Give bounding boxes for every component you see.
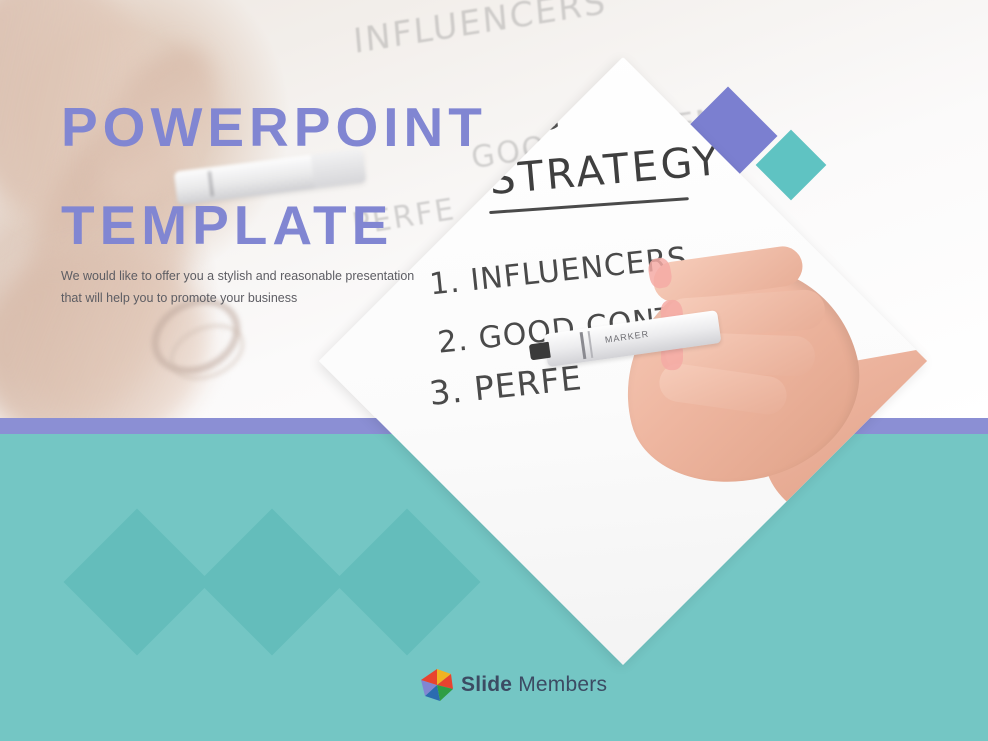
- whiteboard-item-3: 3. PERFE: [427, 358, 584, 413]
- brand-logo-text-light: Members: [512, 673, 607, 696]
- slide-canvas: INFLUENCERS GOOD CONTENT PERFE ETING STR…: [0, 0, 988, 741]
- brand-logo-text-bold: Slide: [461, 673, 512, 696]
- ghost-handwriting-1: INFLUENCERS: [352, 0, 609, 62]
- marker-band: [588, 331, 594, 358]
- slide-title-line-1: POWERPOINT: [61, 100, 487, 155]
- marker-band: [580, 332, 587, 359]
- brand-logo-text: Slide Members: [461, 673, 607, 697]
- slide-subtitle: We would like to offer you a stylish and…: [61, 266, 431, 310]
- slide-title-line-2: TEMPLATE: [61, 198, 393, 253]
- marker-tip: [529, 342, 551, 361]
- pinwheel-logo-icon: [420, 668, 454, 702]
- marker-band: [208, 171, 214, 196]
- brand-logo: Slide Members: [420, 668, 607, 702]
- marker-label: MARKER: [604, 329, 649, 345]
